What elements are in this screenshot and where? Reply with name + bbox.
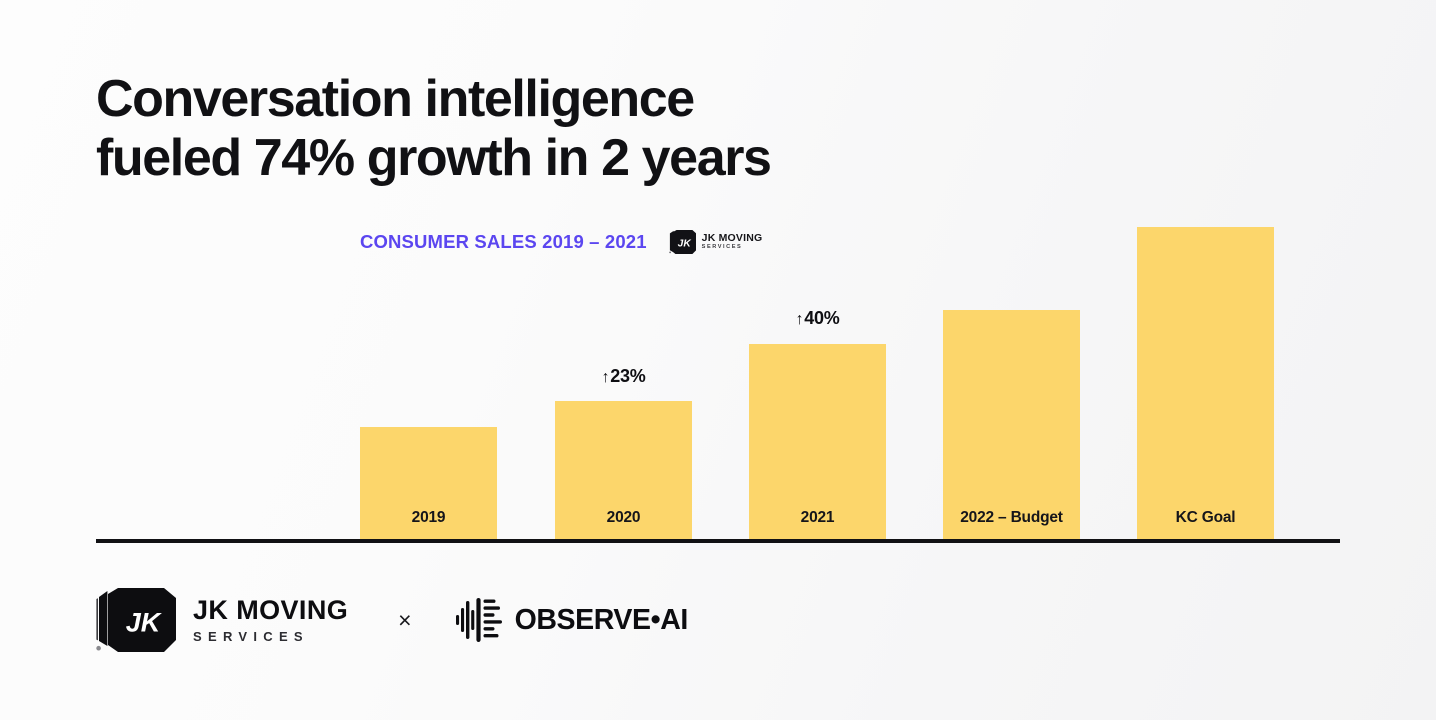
chart-growth-value: 23% [610, 366, 645, 386]
observe-ai-wordmark: OBSERVE•AI [515, 604, 688, 637]
chart-growth-value: 40% [804, 308, 839, 328]
chart-baseline-axis [96, 539, 1340, 543]
footer-logos: JK JK MOVING SERVICES × [96, 588, 688, 652]
jk-moving-name: JK MOVING [193, 597, 348, 624]
chart-bar: 2022 – Budget [943, 310, 1080, 541]
chart-bar-label: 2021 [749, 509, 886, 527]
chart-bar-label: 2022 – Budget [943, 509, 1080, 527]
jk-moving-tagline: SERVICES [193, 630, 348, 643]
chart-growth-annotation: ↑40% [749, 308, 886, 329]
jk-moving-wordmark: JK MOVING SERVICES [193, 597, 348, 643]
jk-moving-badge-icon: JK [96, 588, 176, 652]
slide: Conversation intelligence fueled 74% gro… [0, 0, 1436, 720]
chart-bar-label: 2020 [555, 509, 692, 527]
observe-ai-logo: OBSERVE•AI [456, 598, 688, 642]
jk-moving-logo: JK JK MOVING SERVICES [96, 588, 348, 652]
chart-bar: 2019 [360, 427, 497, 541]
chart-bar: 2021 [749, 344, 886, 541]
chart-growth-annotation: ↑23% [555, 366, 692, 387]
arrow-up-icon: ↑ [796, 311, 804, 328]
chart-bar-label: 2019 [360, 509, 497, 527]
logo-separator-icon: × [398, 609, 411, 632]
chart-bar: 2020 [555, 401, 692, 541]
chart-bar-label: KC Goal [1137, 509, 1274, 527]
chart-bar: KC Goal [1137, 227, 1274, 541]
arrow-up-icon: ↑ [602, 369, 610, 386]
observe-ai-waveform-icon [456, 598, 502, 642]
svg-text:JK: JK [126, 608, 163, 638]
